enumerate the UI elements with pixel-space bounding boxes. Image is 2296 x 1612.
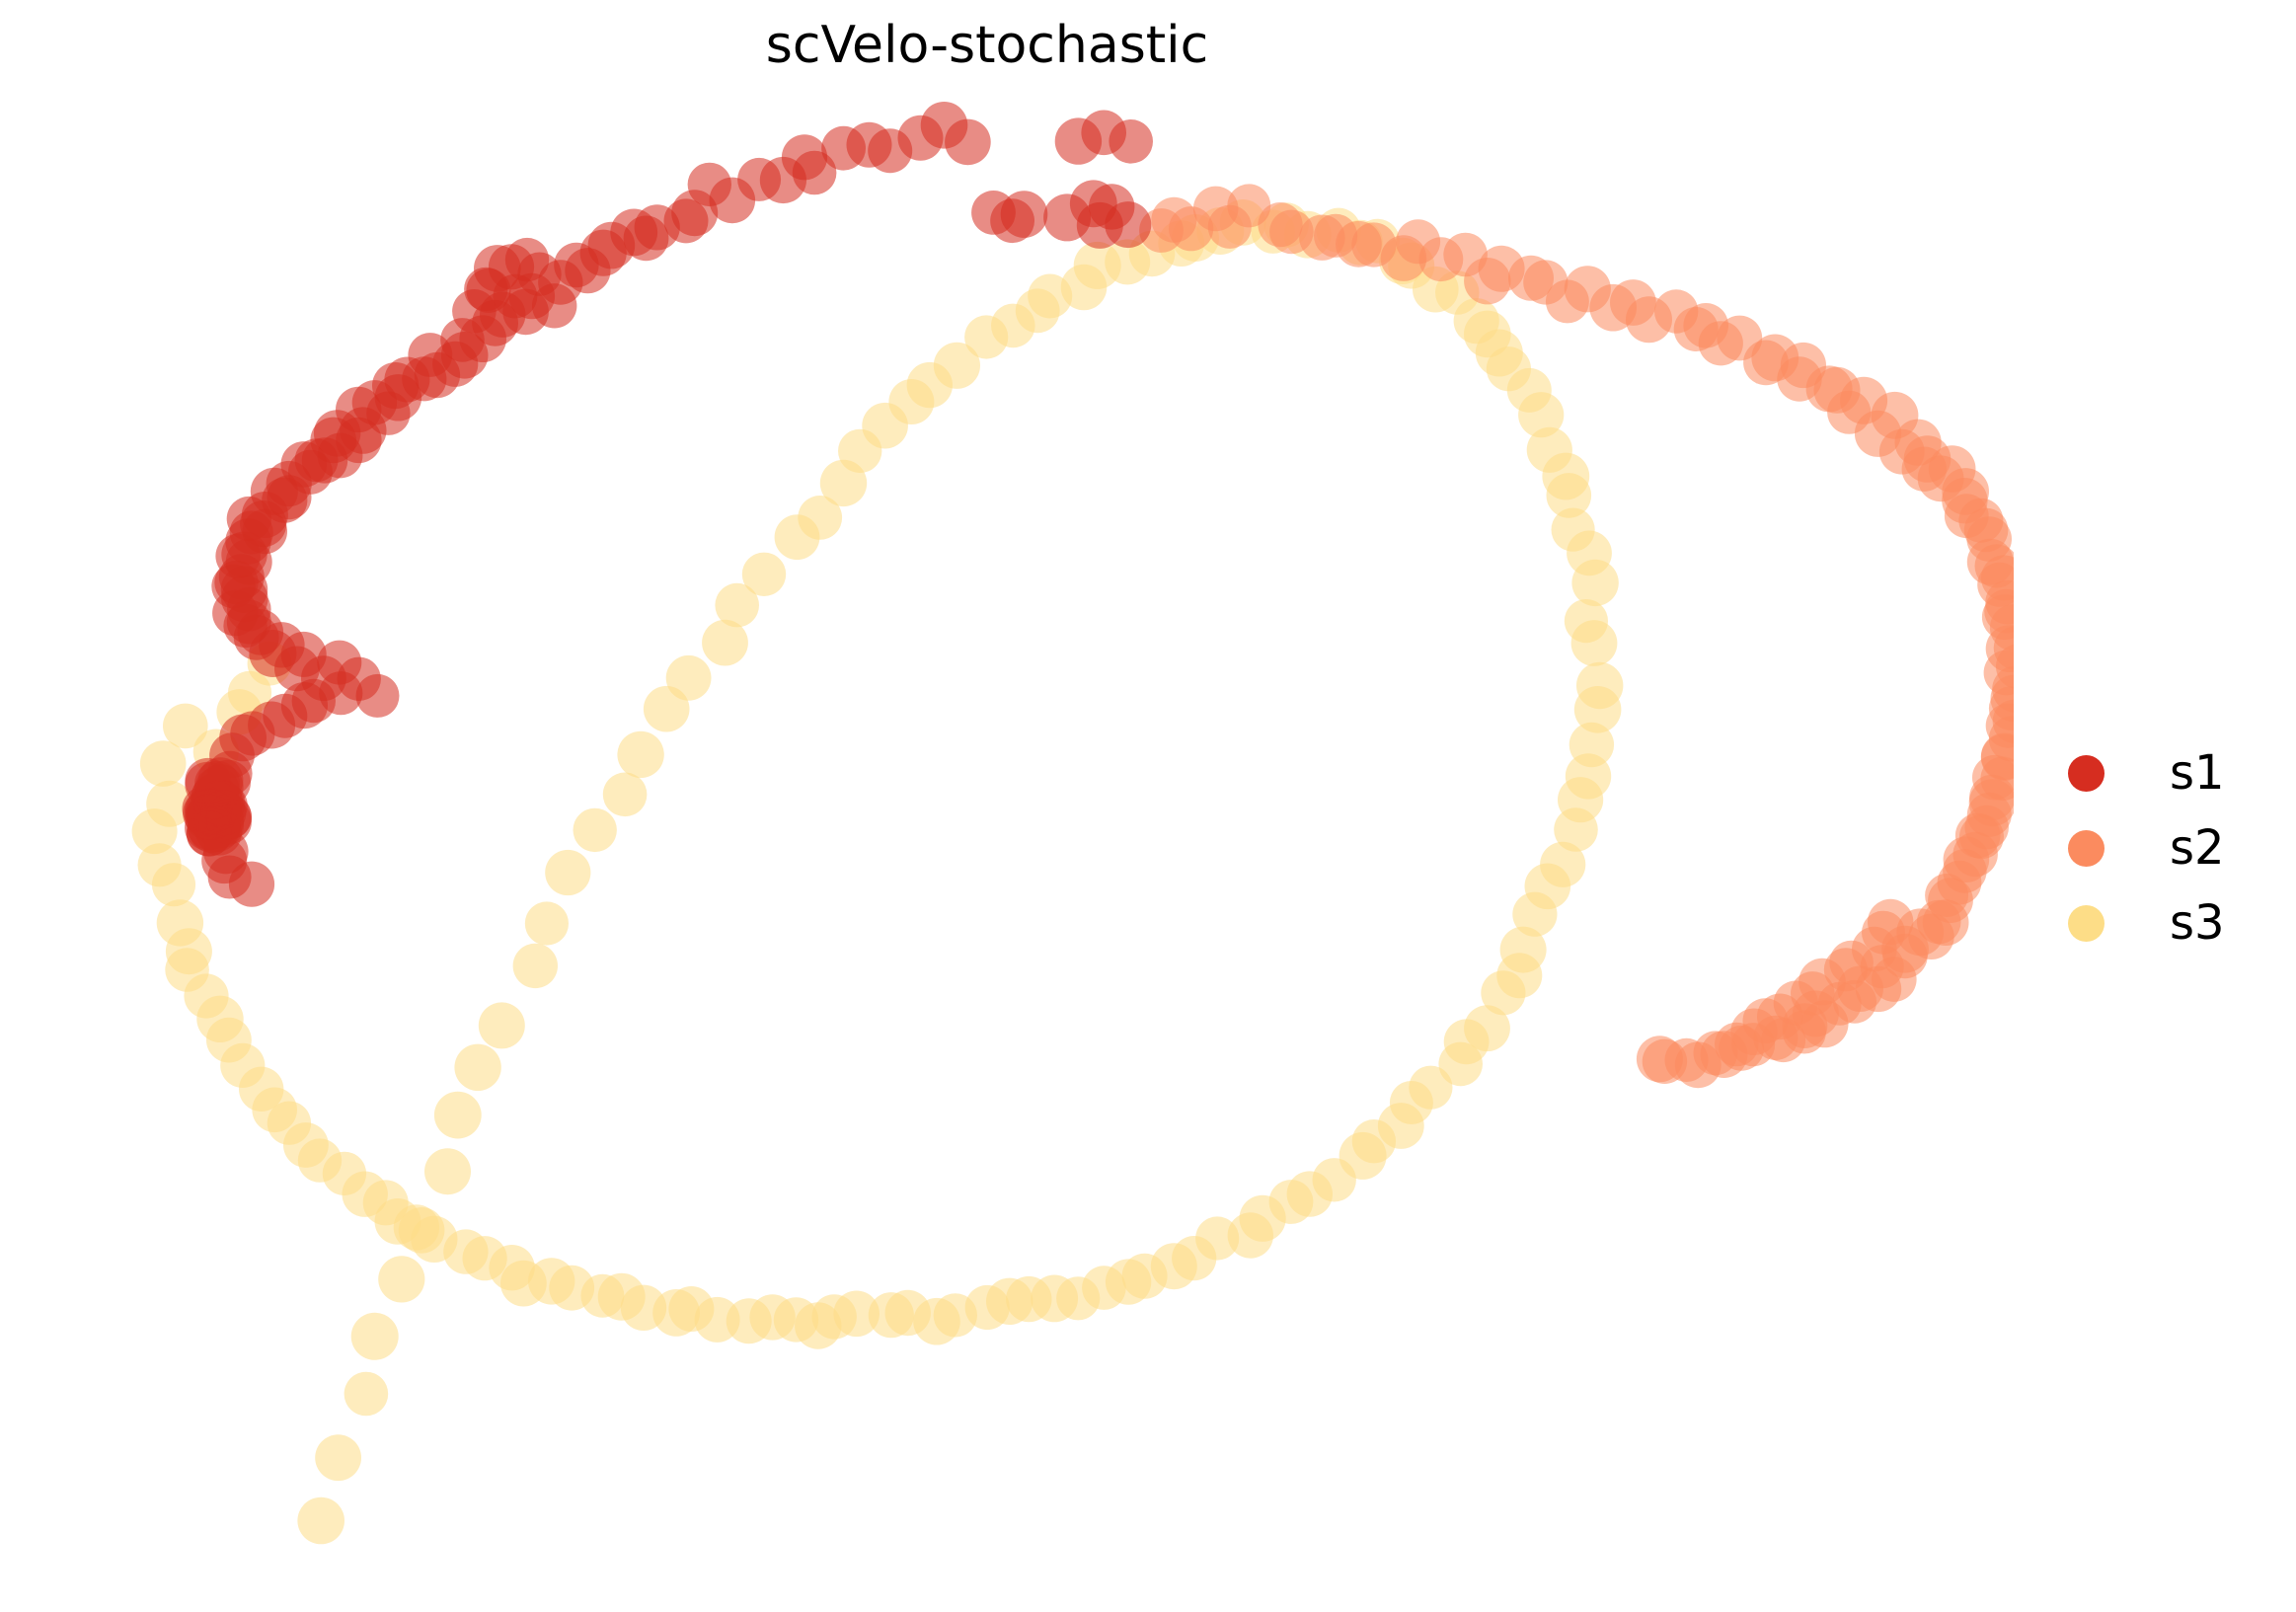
page-title: scVelo-stochastic: [0, 16, 1974, 75]
scatter-point: [187, 811, 232, 857]
scatter-plot-figure: scVelo-stochastic s1 s2 s3: [0, 0, 2296, 1612]
scatter-point: [574, 808, 617, 852]
scatter-point: [1565, 599, 1608, 643]
legend-item-s1[interactable]: s1: [2058, 735, 2225, 810]
scatter-series-s1: [183, 102, 1153, 907]
scatter-point: [603, 773, 648, 817]
scatter-point: [479, 1002, 525, 1048]
legend: s1 s2 s3: [2058, 735, 2285, 948]
plot-axes-area: [0, 69, 2014, 1612]
legend-item-s3[interactable]: s3: [2058, 885, 2225, 960]
legend-label-s2: s2: [2170, 824, 2225, 872]
scatter-point: [945, 119, 991, 166]
scatter-point: [505, 238, 549, 281]
legend-item-s2[interactable]: s2: [2058, 810, 2225, 885]
scatter-point: [1576, 662, 1623, 709]
scatter-point: [434, 1092, 482, 1139]
legend-swatch-s2: [2068, 830, 2105, 867]
legend-swatch-s1: [2068, 755, 2105, 792]
scatter-point: [1868, 899, 1913, 945]
scatter-point: [617, 731, 663, 778]
scatter-point: [344, 1372, 389, 1417]
scatter-point: [821, 126, 866, 171]
legend-label-s1: s1: [2170, 749, 2225, 797]
scatter-point: [399, 1207, 445, 1254]
legend-swatch-s3: [2068, 905, 2105, 942]
scatter-point: [297, 1497, 344, 1545]
scatter-point: [378, 1256, 424, 1302]
scatter-point: [351, 1313, 399, 1360]
scatter-point: [424, 1148, 471, 1194]
scatter-point: [315, 1434, 361, 1481]
scatter-point: [152, 863, 195, 906]
scatter-point: [545, 850, 590, 895]
scatter-point: [525, 901, 569, 945]
scatter-canvas: [0, 69, 2014, 1612]
scatter-point: [1105, 201, 1151, 248]
scatter-point: [1001, 191, 1048, 238]
scatter-point: [140, 740, 187, 787]
scatter-point: [229, 862, 274, 907]
scatter-point: [702, 620, 748, 666]
scatter-point: [454, 1044, 500, 1091]
scatter-point: [1109, 119, 1153, 164]
scatter-point: [513, 944, 558, 988]
scatter-point: [194, 761, 240, 806]
scatter-point: [760, 157, 806, 203]
legend-label-s3: s3: [2170, 899, 2225, 947]
scatter-point: [1757, 994, 1803, 1040]
scatter-point: [644, 686, 690, 732]
scatter-point: [1637, 1036, 1683, 1082]
scatter-point: [775, 514, 820, 560]
